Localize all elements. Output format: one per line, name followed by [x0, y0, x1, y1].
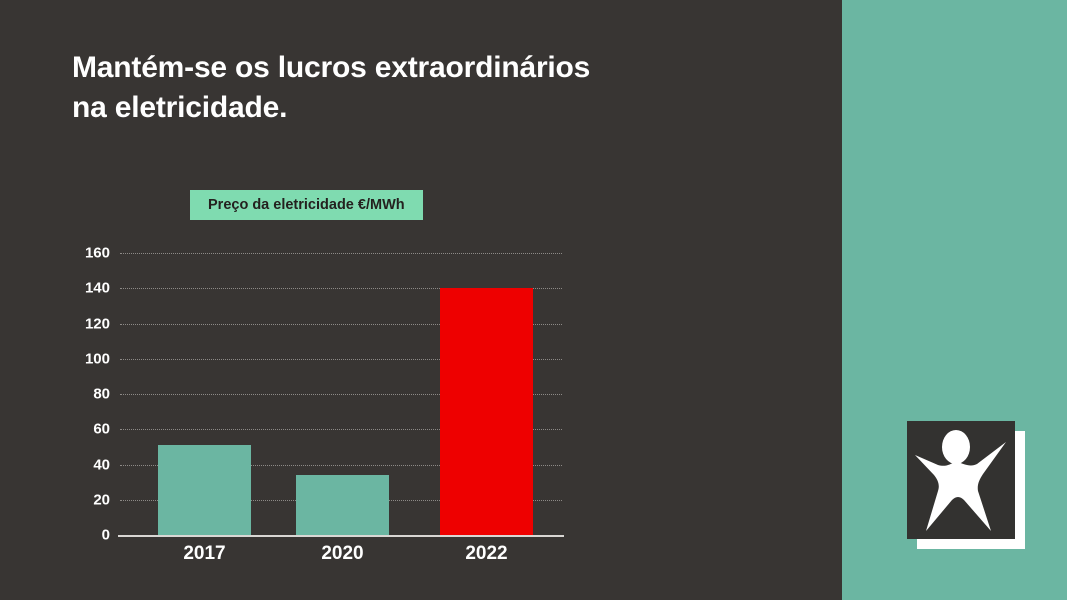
- y-axis-tick-label: 120: [62, 315, 110, 332]
- chart-x-axis-line: [118, 535, 564, 537]
- chart-bar[interactable]: [296, 475, 389, 535]
- y-axis-tick-label: 20: [62, 491, 110, 508]
- x-axis-tick-label: 2017: [145, 543, 265, 565]
- y-axis-tick-label: 140: [62, 280, 110, 297]
- bar-chart: 020406080100120140160 201720202022: [0, 0, 620, 600]
- y-axis-tick-label: 80: [62, 386, 110, 403]
- y-axis-tick-label: 160: [62, 245, 110, 262]
- party-logo: [907, 421, 1025, 549]
- chart-bar[interactable]: [158, 445, 251, 535]
- star-person-icon: [907, 421, 1015, 539]
- gridline: [120, 253, 562, 254]
- y-axis-tick-label: 0: [62, 527, 110, 544]
- x-axis-tick-label: 2020: [283, 543, 403, 565]
- x-axis-tick-label: 2022: [427, 543, 547, 565]
- y-axis-tick-label: 100: [62, 350, 110, 367]
- chart-bar[interactable]: [440, 288, 533, 535]
- y-axis-tick-label: 40: [62, 456, 110, 473]
- y-axis-tick-label: 60: [62, 421, 110, 438]
- slide-canvas: Mantém-se os lucros extraordinários na e…: [0, 0, 1067, 600]
